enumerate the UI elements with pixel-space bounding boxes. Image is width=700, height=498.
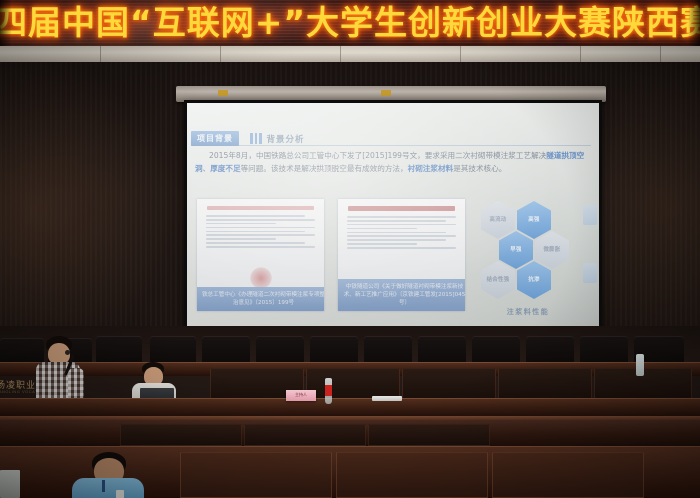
lanyard <box>102 480 105 492</box>
barrier-panel <box>336 452 488 498</box>
document-caption: 中铁隧道公司《关于做好隧道衬砌带模注浆新技术、新工艺推广应用》〔京铁建工管发[2… <box>338 279 465 311</box>
side-accent-card <box>583 205 597 225</box>
hex-cell: 高流动 <box>481 201 515 239</box>
name-card: 主持人 <box>286 390 316 401</box>
hex-cell: 抗渗 <box>517 261 551 299</box>
chair <box>150 336 196 364</box>
banner-right-shadow <box>688 0 700 46</box>
chair <box>96 336 142 364</box>
front-panel <box>120 424 242 446</box>
front-desk <box>0 398 700 416</box>
slide-document-images: 铁总工管中心《办理隧道二次衬砌带模注浆专项整治意见》〔2015〕199号 中铁隧… <box>197 199 465 311</box>
chair <box>310 336 358 364</box>
foreground-paper <box>0 470 20 498</box>
desk-panel <box>402 368 496 400</box>
bottle-right <box>636 354 644 376</box>
name-card-text: 主持人 <box>286 390 316 400</box>
hex-cell: 早强 <box>499 231 533 269</box>
chair <box>526 336 574 364</box>
document-caption: 铁总工管中心《办理隧道二次衬砌带模注浆专项整治意见》〔2015〕199号 <box>197 287 324 311</box>
hex-cell: 高强 <box>517 201 551 239</box>
desk-panel <box>498 368 592 400</box>
presentation-slide: 项目背景 背景分析 2015年8月，中国铁路总公司工管中心下发了[2015]19… <box>187 103 599 331</box>
document-thumbnail: 中铁隧道公司《关于做好隧道衬砌带模注浆新技术、新工艺推广应用》〔京铁建工管发[2… <box>338 199 465 311</box>
badge <box>116 490 124 498</box>
front-panel <box>368 424 490 446</box>
hexagon-diagram-label: 注浆料性能 <box>473 307 583 317</box>
chair <box>256 336 304 364</box>
red-seal-icon <box>250 267 272 289</box>
slide-subtitle: 背景分析 <box>267 133 305 145</box>
chair <box>202 336 250 364</box>
slide-header: 项目背景 背景分析 <box>191 131 305 146</box>
led-banner-text: 四届中国“互联网+”大学生创新创业大赛陕西赛 <box>0 3 700 43</box>
slide-header-rule <box>191 145 591 146</box>
barrier-panel <box>180 452 332 498</box>
hex-cell: 微膨胀 <box>535 231 569 269</box>
side-accent-card <box>583 263 597 283</box>
barrier-panel <box>492 452 644 498</box>
photo-scene: 四届中国“互联网+”大学生创新创业大赛陕西赛 项目背景 背景分析 <box>0 0 700 498</box>
document-thumbnail: 铁总工管中心《办理隧道二次衬砌带模注浆专项整治意见》〔2015〕199号 <box>197 199 324 311</box>
front-panel <box>244 424 366 446</box>
presenter-arm <box>68 368 84 402</box>
led-banner: 四届中国“互联网+”大学生创新创业大赛陕西赛 <box>0 0 700 46</box>
chair <box>418 336 466 364</box>
water-bottle <box>325 378 332 404</box>
audience-torso <box>72 478 144 498</box>
slide-body-text: 2015年8月，中国铁路总公司工管中心下发了[2015]199号文，要求采用二次… <box>195 149 587 176</box>
ceiling-strip <box>0 46 700 62</box>
hexagon-diagram: 高流动 高强 早强 微膨胀 结合性强 抗渗 注浆料性能 <box>473 195 583 315</box>
slide-section-tag: 项目背景 <box>191 131 239 146</box>
microphone-head-icon <box>65 350 70 355</box>
chair <box>364 336 412 364</box>
chair <box>472 336 520 364</box>
audience-member <box>72 452 144 498</box>
divider-bars-icon <box>250 133 262 144</box>
paper-sheet <box>372 396 402 401</box>
banner-left-shadow <box>0 0 12 46</box>
chair <box>580 336 628 364</box>
projection-screen: 项目背景 背景分析 2015年8月，中国铁路总公司工管中心下发了[2015]19… <box>184 100 602 334</box>
hex-cell: 结合性强 <box>481 261 515 299</box>
